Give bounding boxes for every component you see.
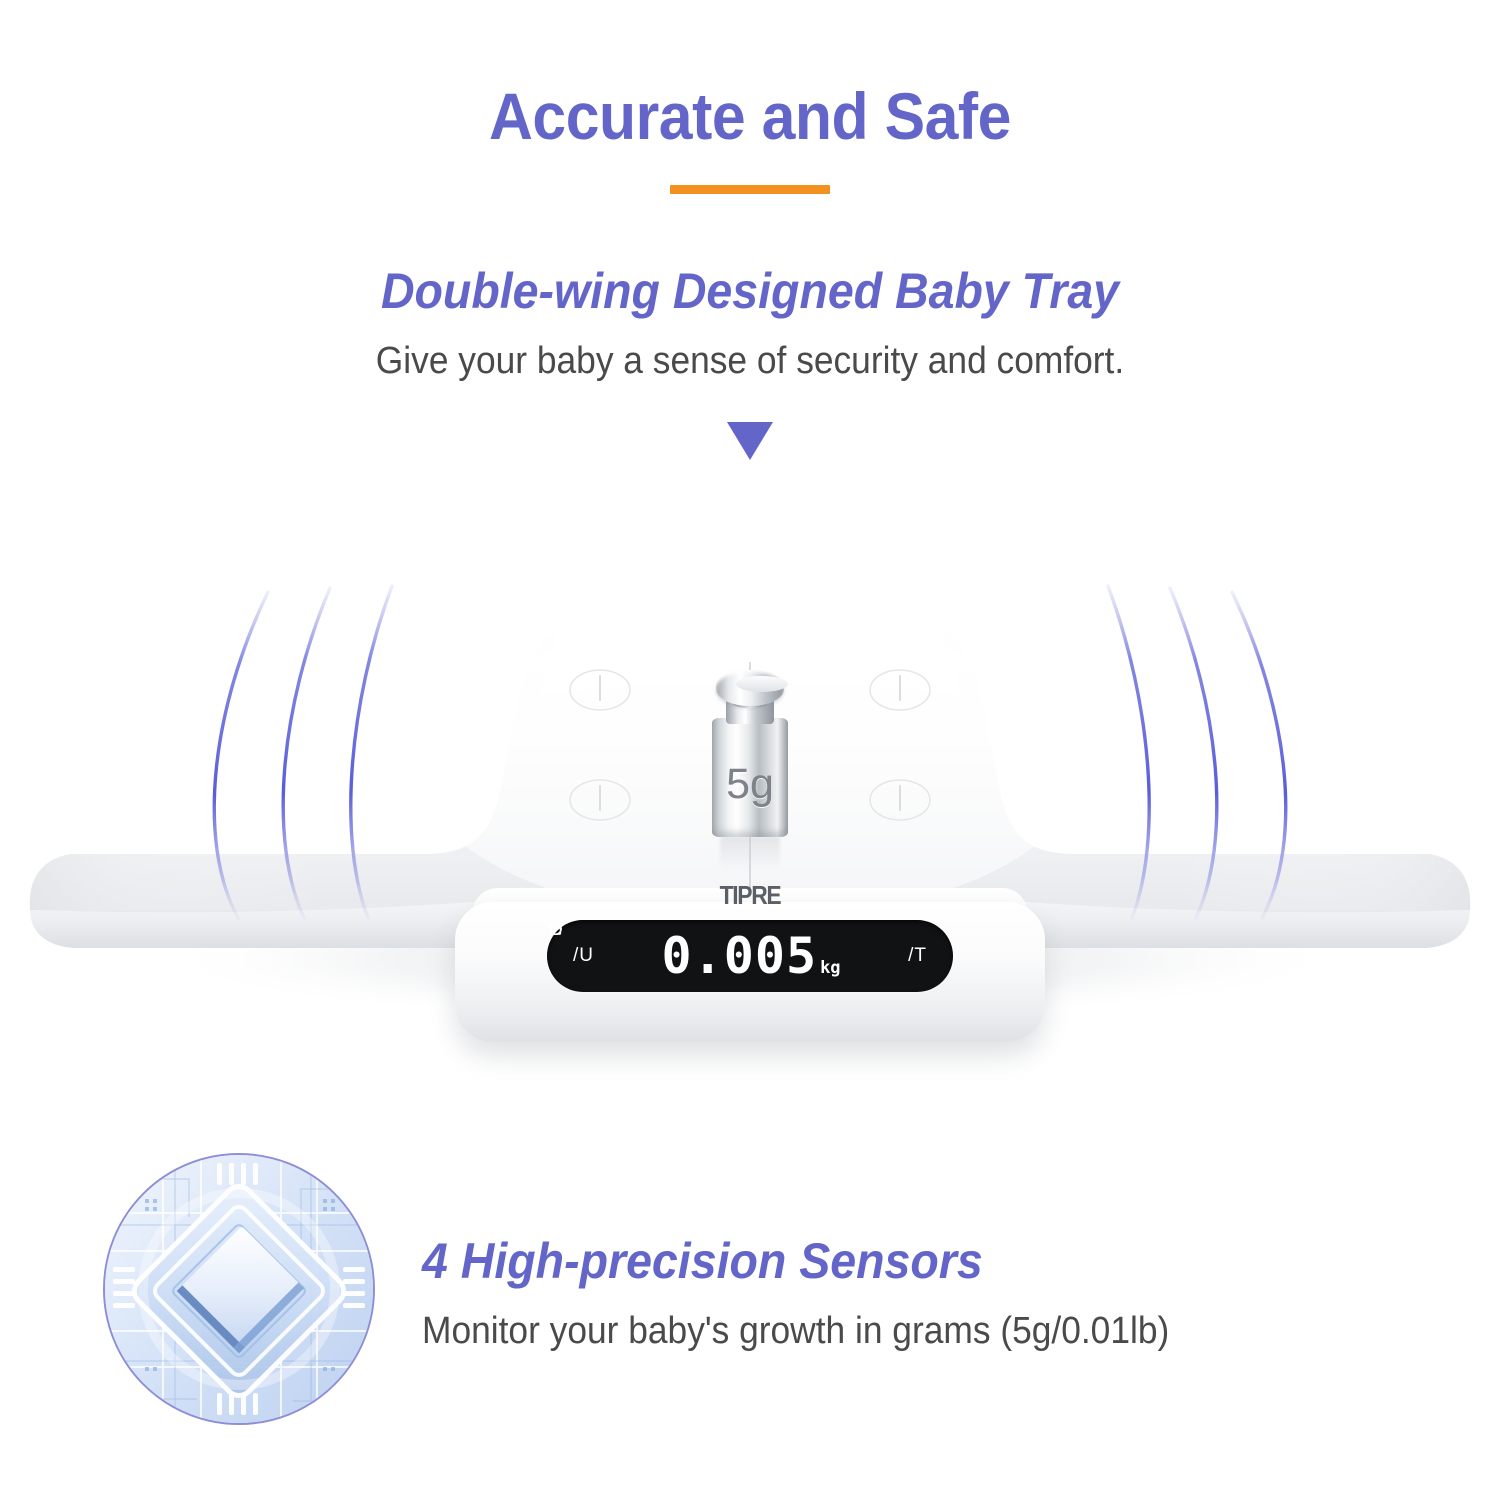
scale-base-unit: TIPRE /U 0.005 kg /T (455, 902, 1045, 1042)
weight-knob (716, 670, 784, 706)
page-title: Accurate and Safe (60, 78, 1440, 154)
power-tare-button-label: /T (908, 945, 927, 967)
weight-reflection (720, 836, 780, 870)
lcd-display-panel: /U 0.005 kg /T (547, 920, 953, 992)
title-underline-rule (670, 185, 830, 194)
brand-logo: TIPRE (490, 880, 1009, 911)
weight-unit: kg (820, 958, 840, 978)
sensors-section-subtitle: Monitor your baby's growth in grams (5g/… (422, 1310, 1169, 1353)
weight-label: 5g (704, 760, 796, 809)
microchip-circuit-icon (103, 1153, 375, 1425)
unit-lock-button[interactable]: /U (573, 945, 594, 967)
product-image-stage: 5g TIPRE /U 0.005 kg /T (0, 440, 1500, 1080)
sensors-section-heading: 4 High-precision Sensors (422, 1232, 983, 1290)
power-icon (547, 920, 564, 937)
weight-readout: 0.005 kg (662, 931, 841, 981)
power-tare-button[interactable]: /T (908, 945, 927, 967)
tray-section-subtitle: Give your baby a sense of security and c… (53, 340, 1448, 383)
tray-section-heading: Double-wing Designed Baby Tray (53, 262, 1448, 320)
weight-value: 0.005 (662, 931, 818, 981)
weight-knob-top (736, 676, 788, 692)
calibration-weight: 5g (704, 662, 796, 837)
unit-lock-button-label: /U (573, 945, 594, 967)
